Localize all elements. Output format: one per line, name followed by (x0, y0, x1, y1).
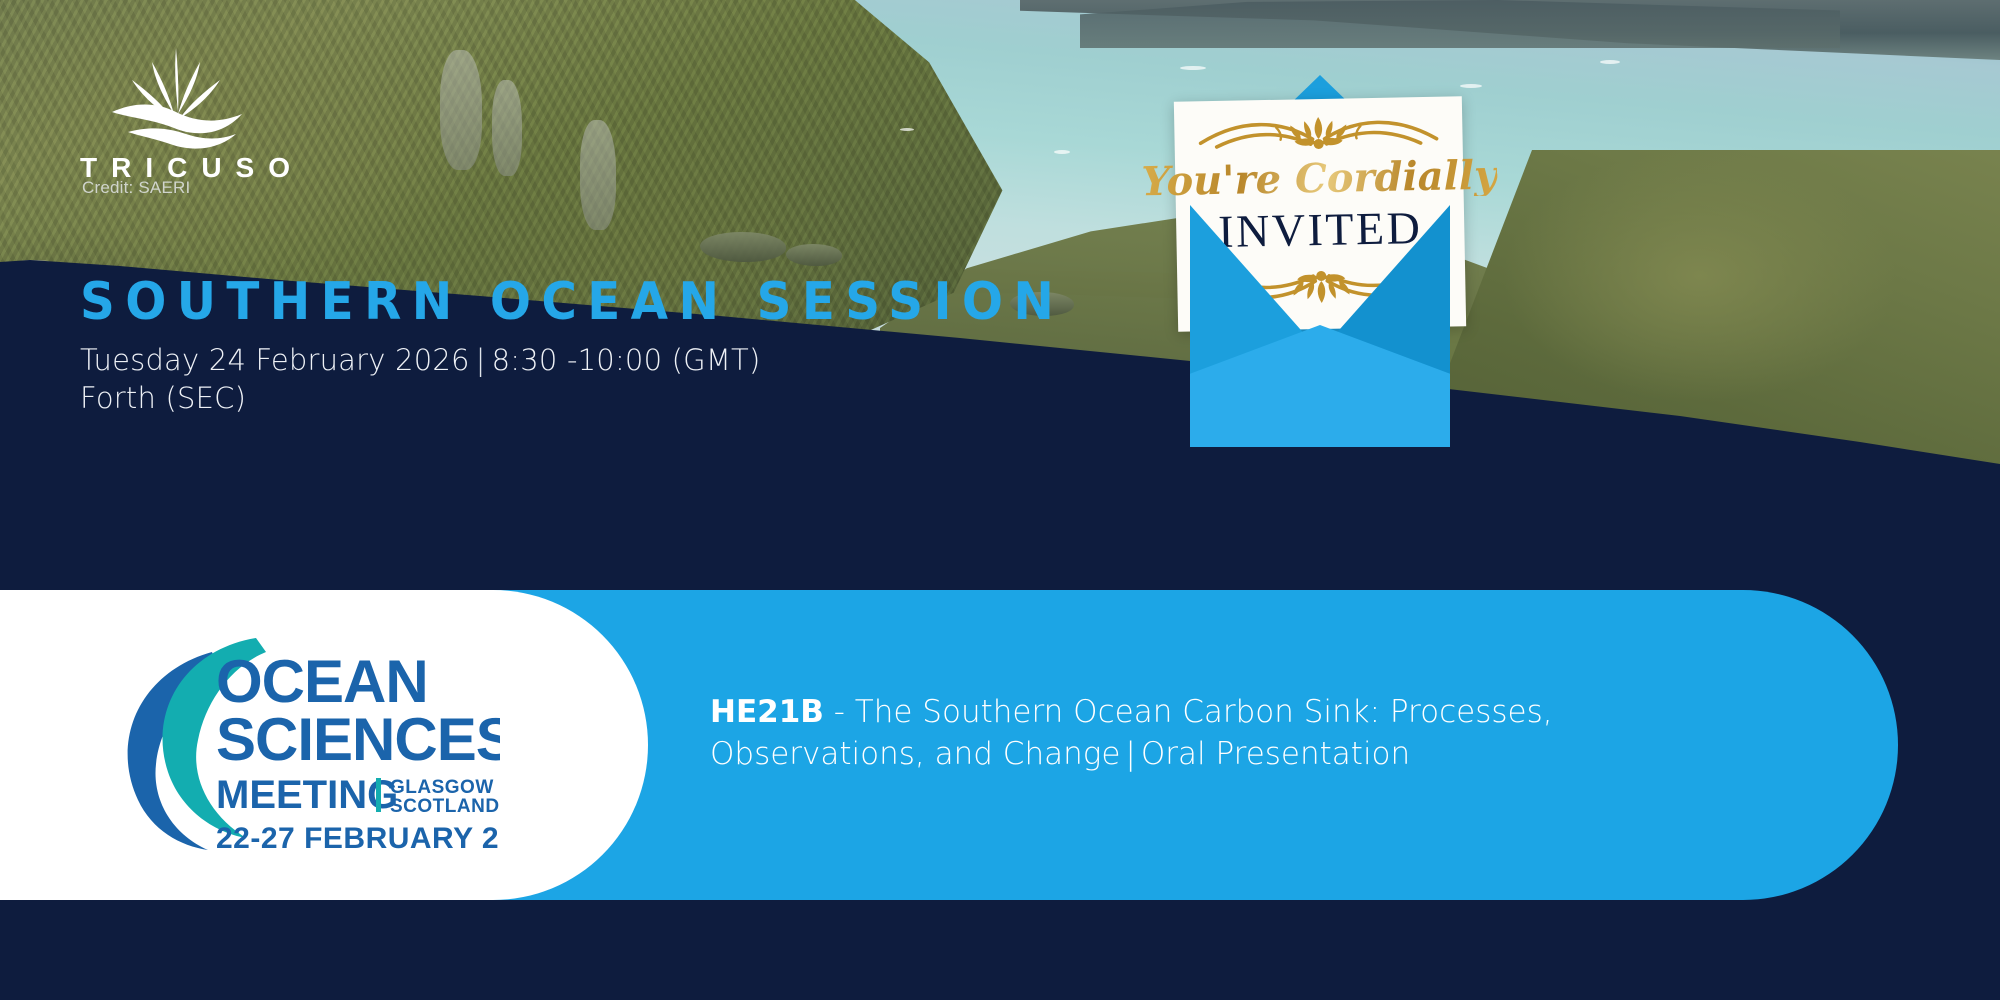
session-type: Oral Presentation (1141, 736, 1410, 772)
photo-islet (786, 244, 842, 266)
photo-glint (900, 128, 914, 131)
svg-text:MEETING: MEETING (216, 773, 398, 817)
session-description: HE21B - The Southern Ocean Carbon Sink: … (710, 692, 1770, 775)
session-meta: Tuesday 24 February 2026|8:30 -10:00 (GM… (80, 342, 760, 417)
svg-text:OCEAN: OCEAN (216, 648, 428, 715)
gold-flourish-ornament-top-icon (1194, 109, 1443, 160)
session-dash: - (824, 694, 855, 730)
meta-separator: | (470, 343, 492, 377)
tricuso-logo: TRICUSO (78, 40, 338, 184)
session-code: HE21B (710, 694, 824, 730)
photo-credit: Credit: SAERI (82, 178, 190, 198)
page-title: SOUTHERN OCEAN SESSION (80, 272, 1064, 332)
open-envelope-icon: You're Cordially INVITED (1140, 55, 1500, 455)
photo-glint (1054, 150, 1070, 154)
session-separator: | (1120, 736, 1140, 772)
photo-distant-headland-2 (1080, 0, 1840, 48)
photo-glint (1600, 60, 1620, 64)
session-datetime-line: Tuesday 24 February 2026|8:30 -10:00 (GM… (80, 342, 760, 380)
svg-text:SCOTLAND: SCOTLAND (390, 796, 500, 817)
invitation-main-text: INVITED (1218, 205, 1423, 255)
photo-rock (580, 120, 616, 230)
svg-text:GLASGOW: GLASGOW (390, 777, 494, 798)
session-date: Tuesday 24 February 2026 (80, 343, 470, 377)
tricuso-grass-wave-icon (108, 40, 248, 160)
photo-rock (492, 80, 522, 176)
svg-text:SCIENCES: SCIENCES (216, 706, 500, 773)
photo-islet (700, 232, 786, 262)
ocean-sciences-meeting-logo: OCEAN SCIENCES MEETING GLASGOW SCOTLAND … (80, 630, 500, 860)
session-venue: Forth (SEC) (80, 380, 760, 418)
photo-rock (440, 50, 482, 170)
session-time: 8:30 -10:00 (GMT) (492, 343, 761, 377)
poster-canvas: TRICUSO Credit: SAERI SOUTHERN OCEAN SES… (0, 0, 2000, 1000)
invitation-script-text: You're Cordially (1141, 156, 1498, 203)
svg-text:22-27 FEBRUARY 2026: 22-27 FEBRUARY 2026 (216, 822, 500, 855)
